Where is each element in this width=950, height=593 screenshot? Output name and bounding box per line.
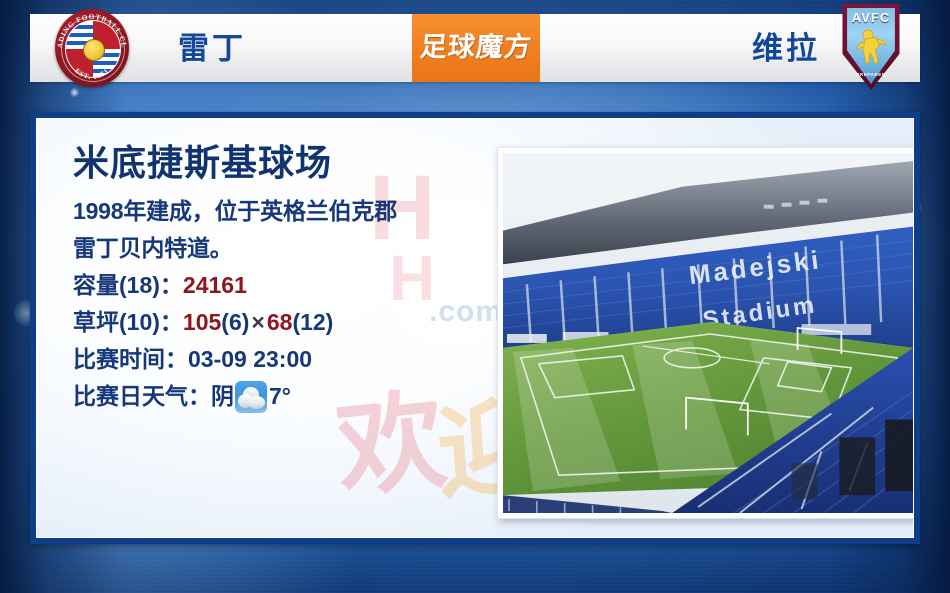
site-logo-text: 足球魔方 bbox=[412, 31, 540, 63]
weather-row: 比赛日天气：阴7° bbox=[73, 378, 493, 415]
capacity-label: 容量(18)： bbox=[73, 272, 183, 298]
pitch-width-rank: (12) bbox=[292, 309, 333, 335]
home-team-name: 雷丁 bbox=[178, 32, 246, 66]
weather-label: 比赛日天气： bbox=[73, 378, 211, 415]
stadium-description-line-1: 1998年建成，位于英格兰伯克郡 bbox=[73, 193, 493, 230]
pitch-width-value: 68 bbox=[267, 309, 293, 335]
match-time-value: 03-09 23:00 bbox=[188, 346, 312, 372]
madejski-stadium-photo: Madejski Stadium bbox=[503, 153, 913, 513]
villa-crest-motto: PREPARED bbox=[840, 72, 902, 77]
match-time-row: 比赛时间：03-09 23:00 bbox=[73, 341, 493, 378]
site-logo[interactable]: 足球魔方 bbox=[412, 14, 540, 82]
weather-temperature: 7° bbox=[269, 378, 291, 415]
stadium-description-line-2: 雷丁贝内特道。 bbox=[73, 230, 493, 267]
capacity-value: 24161 bbox=[183, 272, 247, 298]
villa-crest-initials: AVFC bbox=[840, 10, 902, 25]
capacity-row: 容量(18)：24161 bbox=[73, 267, 493, 304]
reading-fc-crest-icon: READING FOOTBALL CLUB EST. 1871 bbox=[52, 6, 132, 90]
svg-text:EST. 1871: EST. 1871 bbox=[73, 67, 111, 81]
stadium-info-block: 米底捷斯基球场 1998年建成，位于英格兰伯克郡 雷丁贝内特道。 容量(18)：… bbox=[73, 141, 493, 415]
stadium-info-page: 雷丁 维拉 足球魔方 READING FOOTBALL CLUB EST. 18… bbox=[0, 0, 950, 593]
pitch-length-rank: (6) bbox=[221, 309, 249, 335]
match-time-label: 比赛时间： bbox=[73, 346, 188, 372]
pitch-label: 草坪(10)： bbox=[73, 309, 183, 335]
pitch-separator: × bbox=[249, 309, 266, 335]
pitch-length-value: 105 bbox=[183, 309, 221, 335]
away-team-name: 维拉 bbox=[752, 32, 820, 66]
aston-villa-crest-icon: AVFC PREPARED bbox=[840, 4, 902, 90]
pitch-row: 草坪(10)：105(6)×68(12) bbox=[73, 304, 493, 341]
stadium-info-card: H H .com 欢 迎 米底捷斯基球场 1998年建成，位于英格兰伯克郡 雷丁… bbox=[30, 112, 920, 544]
weather-condition: 阴 bbox=[211, 378, 234, 415]
stadium-name-title: 米底捷斯基球场 bbox=[73, 141, 493, 185]
cloudy-icon bbox=[235, 381, 267, 413]
svg-text:READING FOOTBALL CLUB: READING FOOTBALL CLUB bbox=[52, 6, 128, 49]
madejski-stadium-photo-frame: Madejski Stadium bbox=[497, 147, 914, 519]
